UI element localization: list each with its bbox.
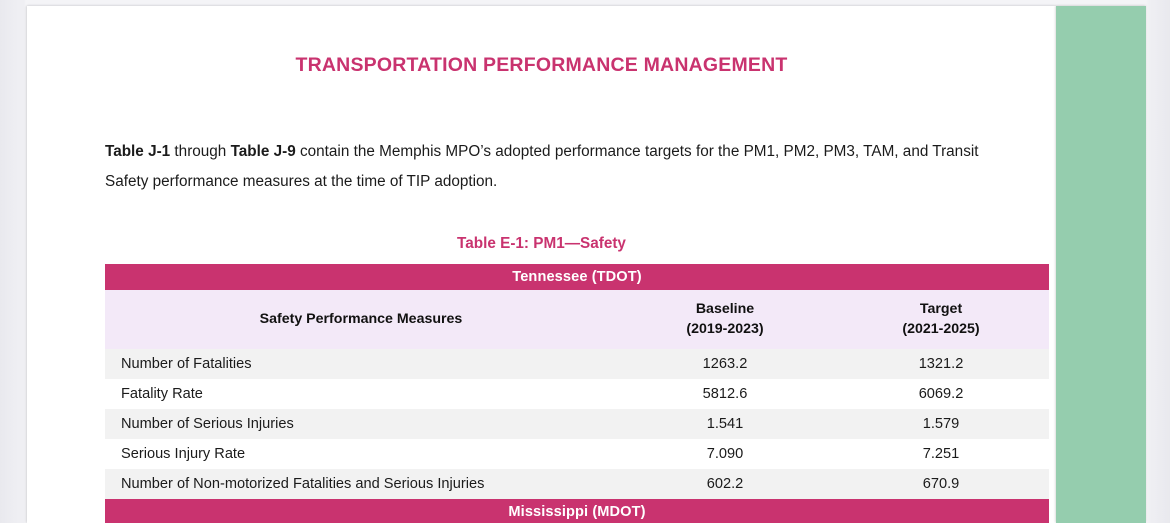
row-baseline: 1263.2 [617,349,833,379]
page-title: TRANSPORTATION PERFORMANCE MANAGEMENT [27,54,1056,77]
table-row: Number of Serious Injuries 1.541 1.579 [105,409,1049,439]
intro-paragraph: Table J-1 through Table J-9 contain the … [105,137,1025,197]
column-header-baseline-range: (2019-2023) [686,321,763,337]
column-header-target-label: Target [920,301,962,317]
row-baseline: 1.541 [617,409,833,439]
row-target: 7.251 [833,439,1049,469]
table-column-header-row: Safety Performance Measures Baseline (20… [105,290,1049,349]
row-target: 6069.2 [833,379,1049,409]
row-measure: Fatality Rate [105,379,617,409]
adjacent-page-green-panel [1056,6,1146,523]
row-target: 1321.2 [833,349,1049,379]
table-ref-end: Table J-9 [231,143,296,160]
row-measure: Number of Serious Injuries [105,409,617,439]
section-band-label: Tennessee (TDOT) [105,264,1049,290]
column-header-target-range: (2021-2025) [902,321,979,337]
row-measure: Serious Injury Rate [105,439,617,469]
document-page: TRANSPORTATION PERFORMANCE MANAGEMENT Ta… [27,6,1056,523]
row-baseline: 5812.6 [617,379,833,409]
section-band-tennessee: Tennessee (TDOT) [105,264,1049,290]
table-ref-start: Table J-1 [105,143,170,160]
table-row: Number of Fatalities 1263.2 1321.2 [105,349,1049,379]
column-header-target: Target (2021-2025) [833,290,1049,349]
row-target: 1.579 [833,409,1049,439]
column-header-baseline: Baseline (2019-2023) [617,290,833,349]
safety-performance-table: Tennessee (TDOT) Safety Performance Meas… [105,264,1049,523]
column-header-baseline-label: Baseline [696,301,754,317]
row-measure: Number of Fatalities [105,349,617,379]
row-target: 670.9 [833,469,1049,499]
table-row: Serious Injury Rate 7.090 7.251 [105,439,1049,469]
row-baseline: 7.090 [617,439,833,469]
table-row: Fatality Rate 5812.6 6069.2 [105,379,1049,409]
row-baseline: 602.2 [617,469,833,499]
section-band-label: Mississippi (MDOT) [105,499,1049,523]
document-viewer-workspace: TRANSPORTATION PERFORMANCE MANAGEMENT Ta… [0,0,1170,523]
section-band-mississippi: Mississippi (MDOT) [105,499,1049,523]
table-row: Number of Non-motorized Fatalities and S… [105,469,1049,499]
row-measure: Number of Non-motorized Fatalities and S… [105,469,617,499]
table-caption: Table E-1: PM1—Safety [27,235,1056,253]
column-header-measures: Safety Performance Measures [105,290,617,349]
paragraph-connector: through [170,143,230,160]
